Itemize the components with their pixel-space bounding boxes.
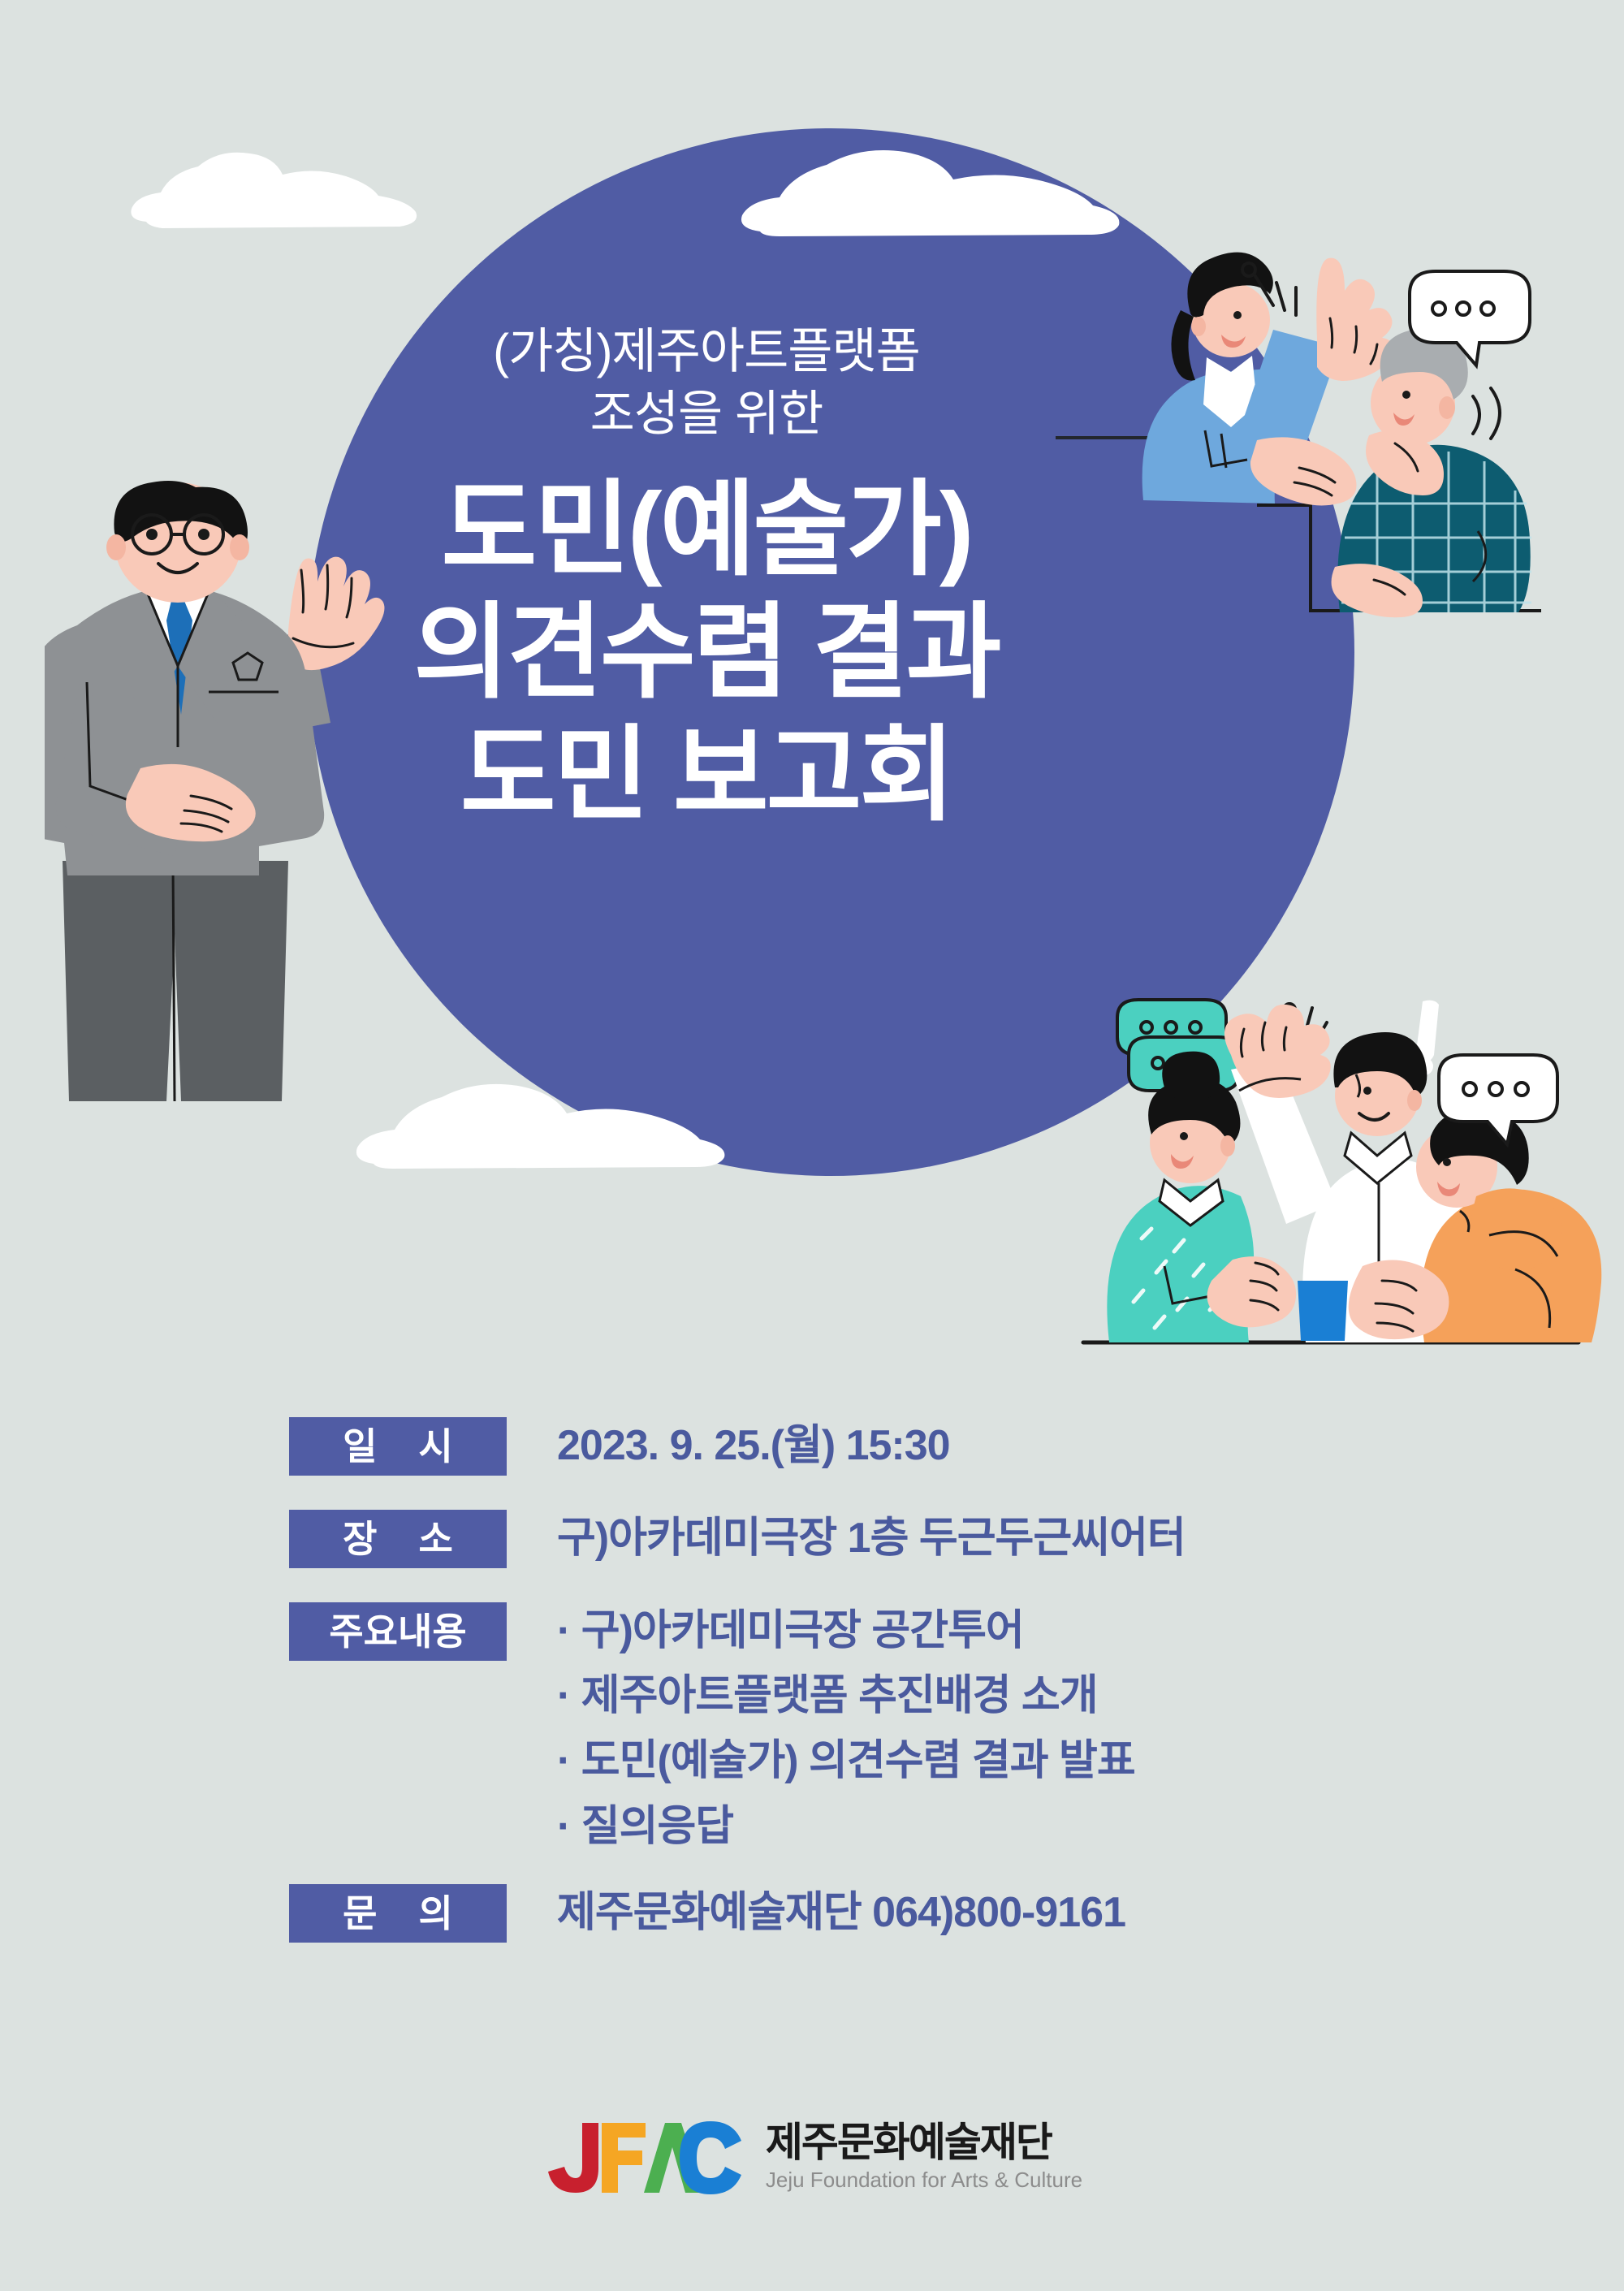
illustration-three-people-cheering — [1080, 987, 1624, 1368]
kicker-line-2: 조성을 위한 — [268, 383, 1145, 446]
cloud-top-right-icon — [731, 142, 1129, 240]
hero-text-block: (가칭)제주아트플랫폼 조성을 위한 도민(예술가) 의견수렴 결과 도민 보고… — [268, 321, 1145, 836]
headline-line-2: 의견수렴 결과 — [268, 591, 1145, 714]
cloud-top-left-icon — [114, 142, 422, 231]
program-bullet-3: · 도민(예술가) 의견수렴 결과 발표 — [557, 1737, 1135, 1784]
jfac-name-ko: 제주문화예술재단 — [766, 2121, 1082, 2164]
program-bullet-4: · 질의응답 — [557, 1803, 1135, 1850]
info-label-datetime: 일 시 — [289, 1417, 507, 1476]
poster-canvas: (가칭)제주아트플랫폼 조성을 위한 도민(예술가) 의견수렴 결과 도민 보고… — [0, 0, 1624, 2291]
kicker-line-2-text: 조성을 위한 — [590, 387, 823, 441]
jfac-logo: 제주문화예술재단 Jeju Foundation for Arts & Cult… — [0, 2120, 1624, 2194]
kicker-line-1: (가칭)제주아트플랫폼 — [268, 321, 1145, 383]
info-value-datetime: 2023. 9. 25.(월) 15:30 — [557, 1417, 950, 1469]
info-value-program: · 구)아카데미극장 공간투어 · 제주아트플랫폼 추진배경 소개 · 도민(예… — [557, 1602, 1135, 1850]
info-label-contact: 문 의 — [289, 1884, 507, 1943]
info-row-program: 주요내용 · 구)아카데미극장 공간투어 · 제주아트플랫폼 추진배경 소개 ·… — [289, 1602, 1426, 1850]
page-title: 도민(예술가) 의견수렴 결과 도민 보고회 — [268, 469, 1145, 836]
info-label-venue: 장 소 — [289, 1510, 507, 1568]
info-row-datetime: 일 시 2023. 9. 25.(월) 15:30 — [289, 1417, 1426, 1476]
illustration-woman-pointing-and-elder — [1137, 236, 1624, 625]
illustration-businessman-waving — [45, 479, 386, 1113]
jfac-name-en: Jeju Foundation for Arts & Culture — [766, 2168, 1082, 2193]
info-row-venue: 장 소 구)아카데미극장 1층 두근두근씨어터 — [289, 1510, 1426, 1568]
info-row-contact: 문 의 제주문화예술재단 064)800-9161 — [289, 1884, 1426, 1943]
program-bullet-2: · 제주아트플랫폼 추진배경 소개 — [557, 1672, 1135, 1719]
headline-line-3: 도민 보고회 — [268, 714, 1145, 836]
jfac-logo-text: 제주문화예술재단 Jeju Foundation for Arts & Cult… — [766, 2121, 1082, 2193]
event-details-table: 일 시 2023. 9. 25.(월) 15:30 장 소 구)아카데미극장 1… — [289, 1417, 1426, 1943]
jfac-logomark-icon — [542, 2120, 751, 2194]
info-label-program: 주요내용 — [289, 1602, 507, 1661]
info-value-contact: 제주문화예술재단 064)800-9161 — [557, 1884, 1125, 1936]
program-bullet-1: · 구)아카데미극장 공간투어 — [557, 1607, 1135, 1654]
cloud-bottom-left-icon — [349, 1076, 731, 1174]
info-value-venue: 구)아카데미극장 1층 두근두근씨어터 — [557, 1510, 1186, 1562]
headline-line-1: 도민(예술가) — [268, 469, 1145, 591]
